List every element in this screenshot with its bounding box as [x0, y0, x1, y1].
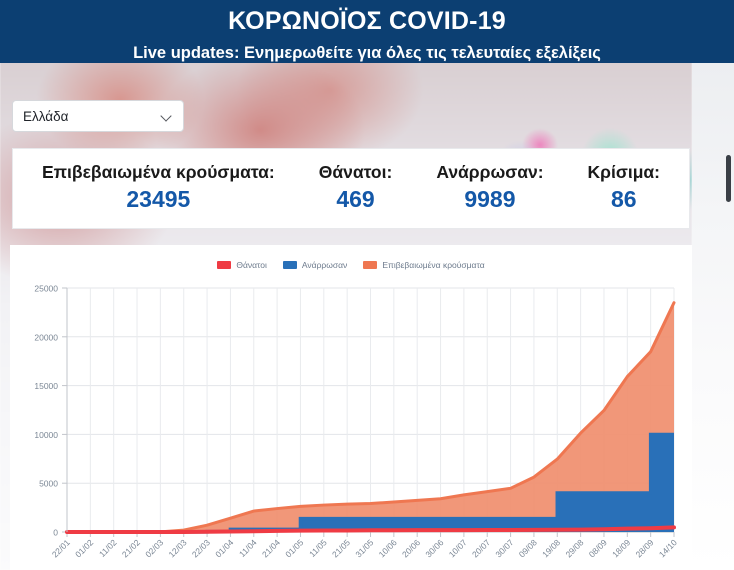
page-title: ΚΟΡΩΝΟΪΟΣ COVID-19 [0, 0, 734, 34]
chart-plot-area: 050001000015000200002500022/0101/0211/02… [10, 278, 692, 570]
x-axis-tick-label: 21/02 [120, 537, 142, 559]
stat-recovered: Ανάρρωσαν: 9989 [414, 162, 565, 216]
stat-value: 469 [319, 185, 393, 215]
chevron-down-icon [161, 110, 173, 122]
x-axis-tick-label: 02/03 [143, 537, 165, 559]
legend-item-confirmed[interactable]: Επιβεβαιωμένα κρούσματα [363, 260, 484, 270]
country-select-value: Ελλάδα [23, 109, 161, 124]
x-axis-tick-label: 18/09 [610, 537, 632, 559]
stat-label: Κρίσιμα: [588, 162, 660, 184]
x-axis-tick-label: 31/05 [353, 537, 375, 559]
stat-label: Θάνατοι: [319, 162, 393, 184]
legend-label: Θάνατοι [236, 260, 267, 270]
x-axis-tick-label: 29/08 [563, 537, 585, 559]
x-axis-tick-label: 11/05 [307, 537, 329, 559]
x-axis-tick-label: 08/09 [587, 537, 609, 559]
stat-value: 9989 [436, 185, 543, 215]
stat-label: Ανάρρωσαν: [436, 162, 543, 184]
y-axis-tick-label: 20000 [34, 332, 58, 342]
stat-value: 23495 [42, 185, 275, 215]
x-axis-tick-label: 10/06 [377, 537, 399, 559]
x-axis-tick-label: 22/01 [50, 537, 72, 559]
legend-swatch-recovered [283, 261, 297, 269]
chart-legend: Θάνατοι Ανάρρωσαν Επιβεβαιωμένα κρούσματ… [10, 260, 692, 270]
y-axis-tick-label: 25000 [34, 284, 58, 294]
x-axis-tick-label: 22/03 [190, 537, 212, 559]
legend-label: Ανάρρωσαν [302, 260, 347, 270]
stat-confirmed: Επιβεβαιωμένα κρούσματα: 23495 [20, 162, 297, 216]
legend-item-recovered[interactable]: Ανάρρωσαν [283, 260, 347, 270]
x-axis-tick-label: 30/06 [423, 537, 445, 559]
x-axis-tick-label: 19/08 [540, 537, 562, 559]
legend-swatch-deaths [217, 261, 231, 269]
legend-item-deaths[interactable]: Θάνατοι [217, 260, 267, 270]
x-axis-tick-label: 11/04 [237, 537, 259, 559]
stat-label: Επιβεβαιωμένα κρούσματα: [42, 162, 275, 184]
x-axis-tick-label: 09/08 [517, 537, 539, 559]
chart-svg: 050001000015000200002500022/0101/0211/02… [10, 278, 692, 570]
x-axis-tick-label: 21/04 [260, 537, 282, 559]
page-scrollbar-thumb[interactable] [726, 155, 731, 202]
timeseries-chart-card: Θάνατοι Ανάρρωσαν Επιβεβαιωμένα κρούσματ… [10, 245, 692, 570]
y-axis-tick-label: 15000 [34, 381, 58, 391]
x-axis-tick-label: 30/07 [493, 537, 515, 559]
stat-value: 86 [588, 185, 660, 215]
stats-summary-card: Επιβεβαιωμένα κρούσματα: 23495 Θάνατοι: … [12, 148, 690, 229]
legend-label: Επιβεβαιωμένα κρούσματα [382, 260, 484, 270]
x-axis-tick-label: 12/03 [167, 537, 189, 559]
x-axis-tick-label: 01/05 [283, 537, 305, 559]
x-axis-tick-label: 14/10 [657, 537, 679, 559]
x-axis-tick-label: 20/07 [470, 537, 492, 559]
site-header: ΚΟΡΩΝΟΪΟΣ COVID-19 Live updates: Ενημερω… [0, 0, 734, 63]
x-axis-tick-label: 01/02 [73, 537, 95, 559]
x-axis-tick-label: 20/06 [400, 537, 422, 559]
y-axis-tick-label: 0 [53, 528, 58, 538]
legend-swatch-confirmed [363, 261, 377, 269]
stat-deaths: Θάνατοι: 469 [297, 162, 415, 216]
y-axis-tick-label: 5000 [39, 479, 58, 489]
x-axis-tick-label: 01/04 [213, 537, 235, 559]
page-scrollbar-track[interactable] [726, 63, 734, 570]
x-axis-tick-label: 11/02 [97, 537, 119, 559]
stat-critical: Κρίσιμα: 86 [566, 162, 682, 216]
x-axis-tick-label: 28/09 [633, 537, 655, 559]
country-select[interactable]: Ελλάδα [12, 100, 184, 132]
x-axis-tick-label: 21/05 [330, 537, 352, 559]
y-axis-tick-label: 10000 [34, 430, 58, 440]
page-subtitle: Live updates: Ενημερωθείτε για όλες τις … [0, 34, 734, 62]
x-axis-tick-label: 10/07 [447, 537, 469, 559]
